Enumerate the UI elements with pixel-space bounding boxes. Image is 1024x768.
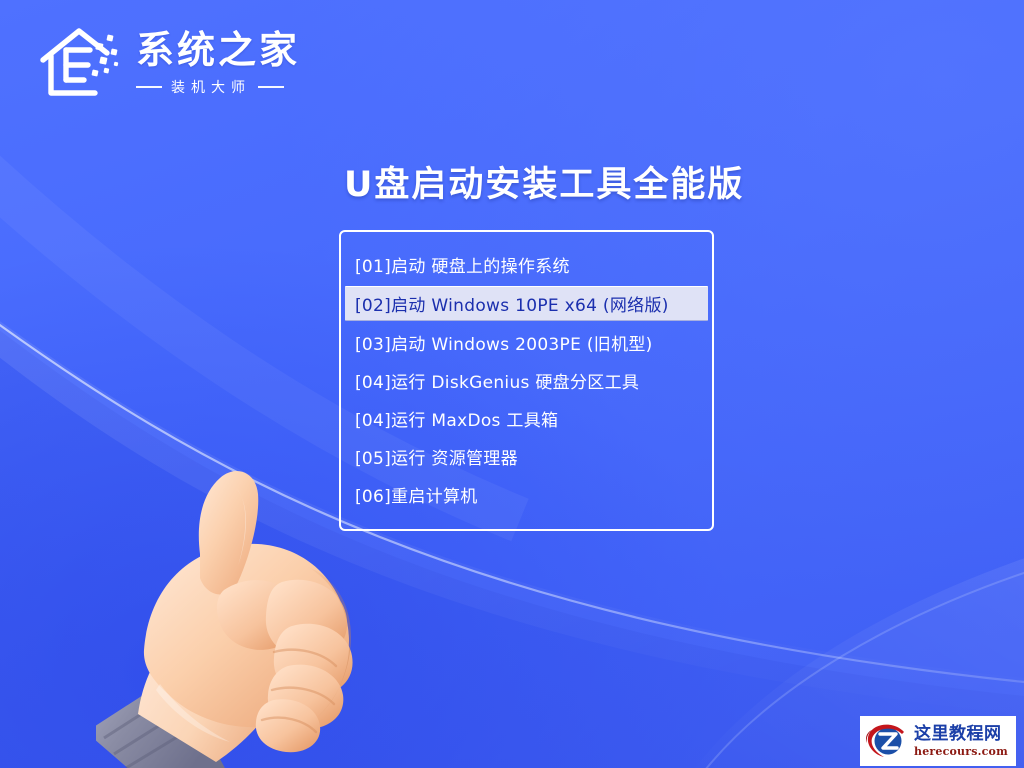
brand-tagline: 装机大师 [169, 77, 251, 97]
boot-menu-screen: 系统之家 装机大师 U盘启动安装工具全能版 [01]启动 硬盘上的操作系统 [0… [0, 0, 1024, 768]
boot-menu-list: [01]启动 硬盘上的操作系统 [02]启动 Windows 10PE x64 … [339, 230, 714, 531]
menu-item-06[interactable]: [06]重启计算机 [345, 478, 708, 511]
brand-name: 系统之家 [136, 31, 300, 71]
watermark-site-name: 这里教程网 [914, 726, 1008, 743]
menu-item-03[interactable]: [03]启动 Windows 2003PE (旧机型) [345, 326, 708, 359]
brand-logo: 系统之家 装机大师 [38, 16, 300, 108]
menu-item-05[interactable]: [05]运行 资源管理器 [345, 440, 708, 473]
page-title: U盘启动安装工具全能版 [344, 156, 744, 207]
menu-item-02[interactable]: [02]启动 Windows 10PE x64 (网络版) [345, 286, 708, 321]
menu-item-01[interactable]: [01]启动 硬盘上的操作系统 [345, 248, 708, 281]
house-circuit-logo-icon [38, 23, 124, 101]
brand-tagline-row: 装机大师 [136, 77, 300, 97]
tagline-dash-right [258, 86, 284, 88]
menu-item-04-diskgenius[interactable]: [04]运行 DiskGenius 硬盘分区工具 [345, 364, 708, 397]
z-swirl-logo-icon [864, 721, 910, 761]
watermark-site-url: herecours.com [914, 746, 1008, 757]
menu-item-04-maxdos[interactable]: [04]运行 MaxDos 工具箱 [345, 402, 708, 435]
tagline-dash-left [136, 86, 162, 88]
watermark: 这里教程网 herecours.com [860, 716, 1016, 766]
